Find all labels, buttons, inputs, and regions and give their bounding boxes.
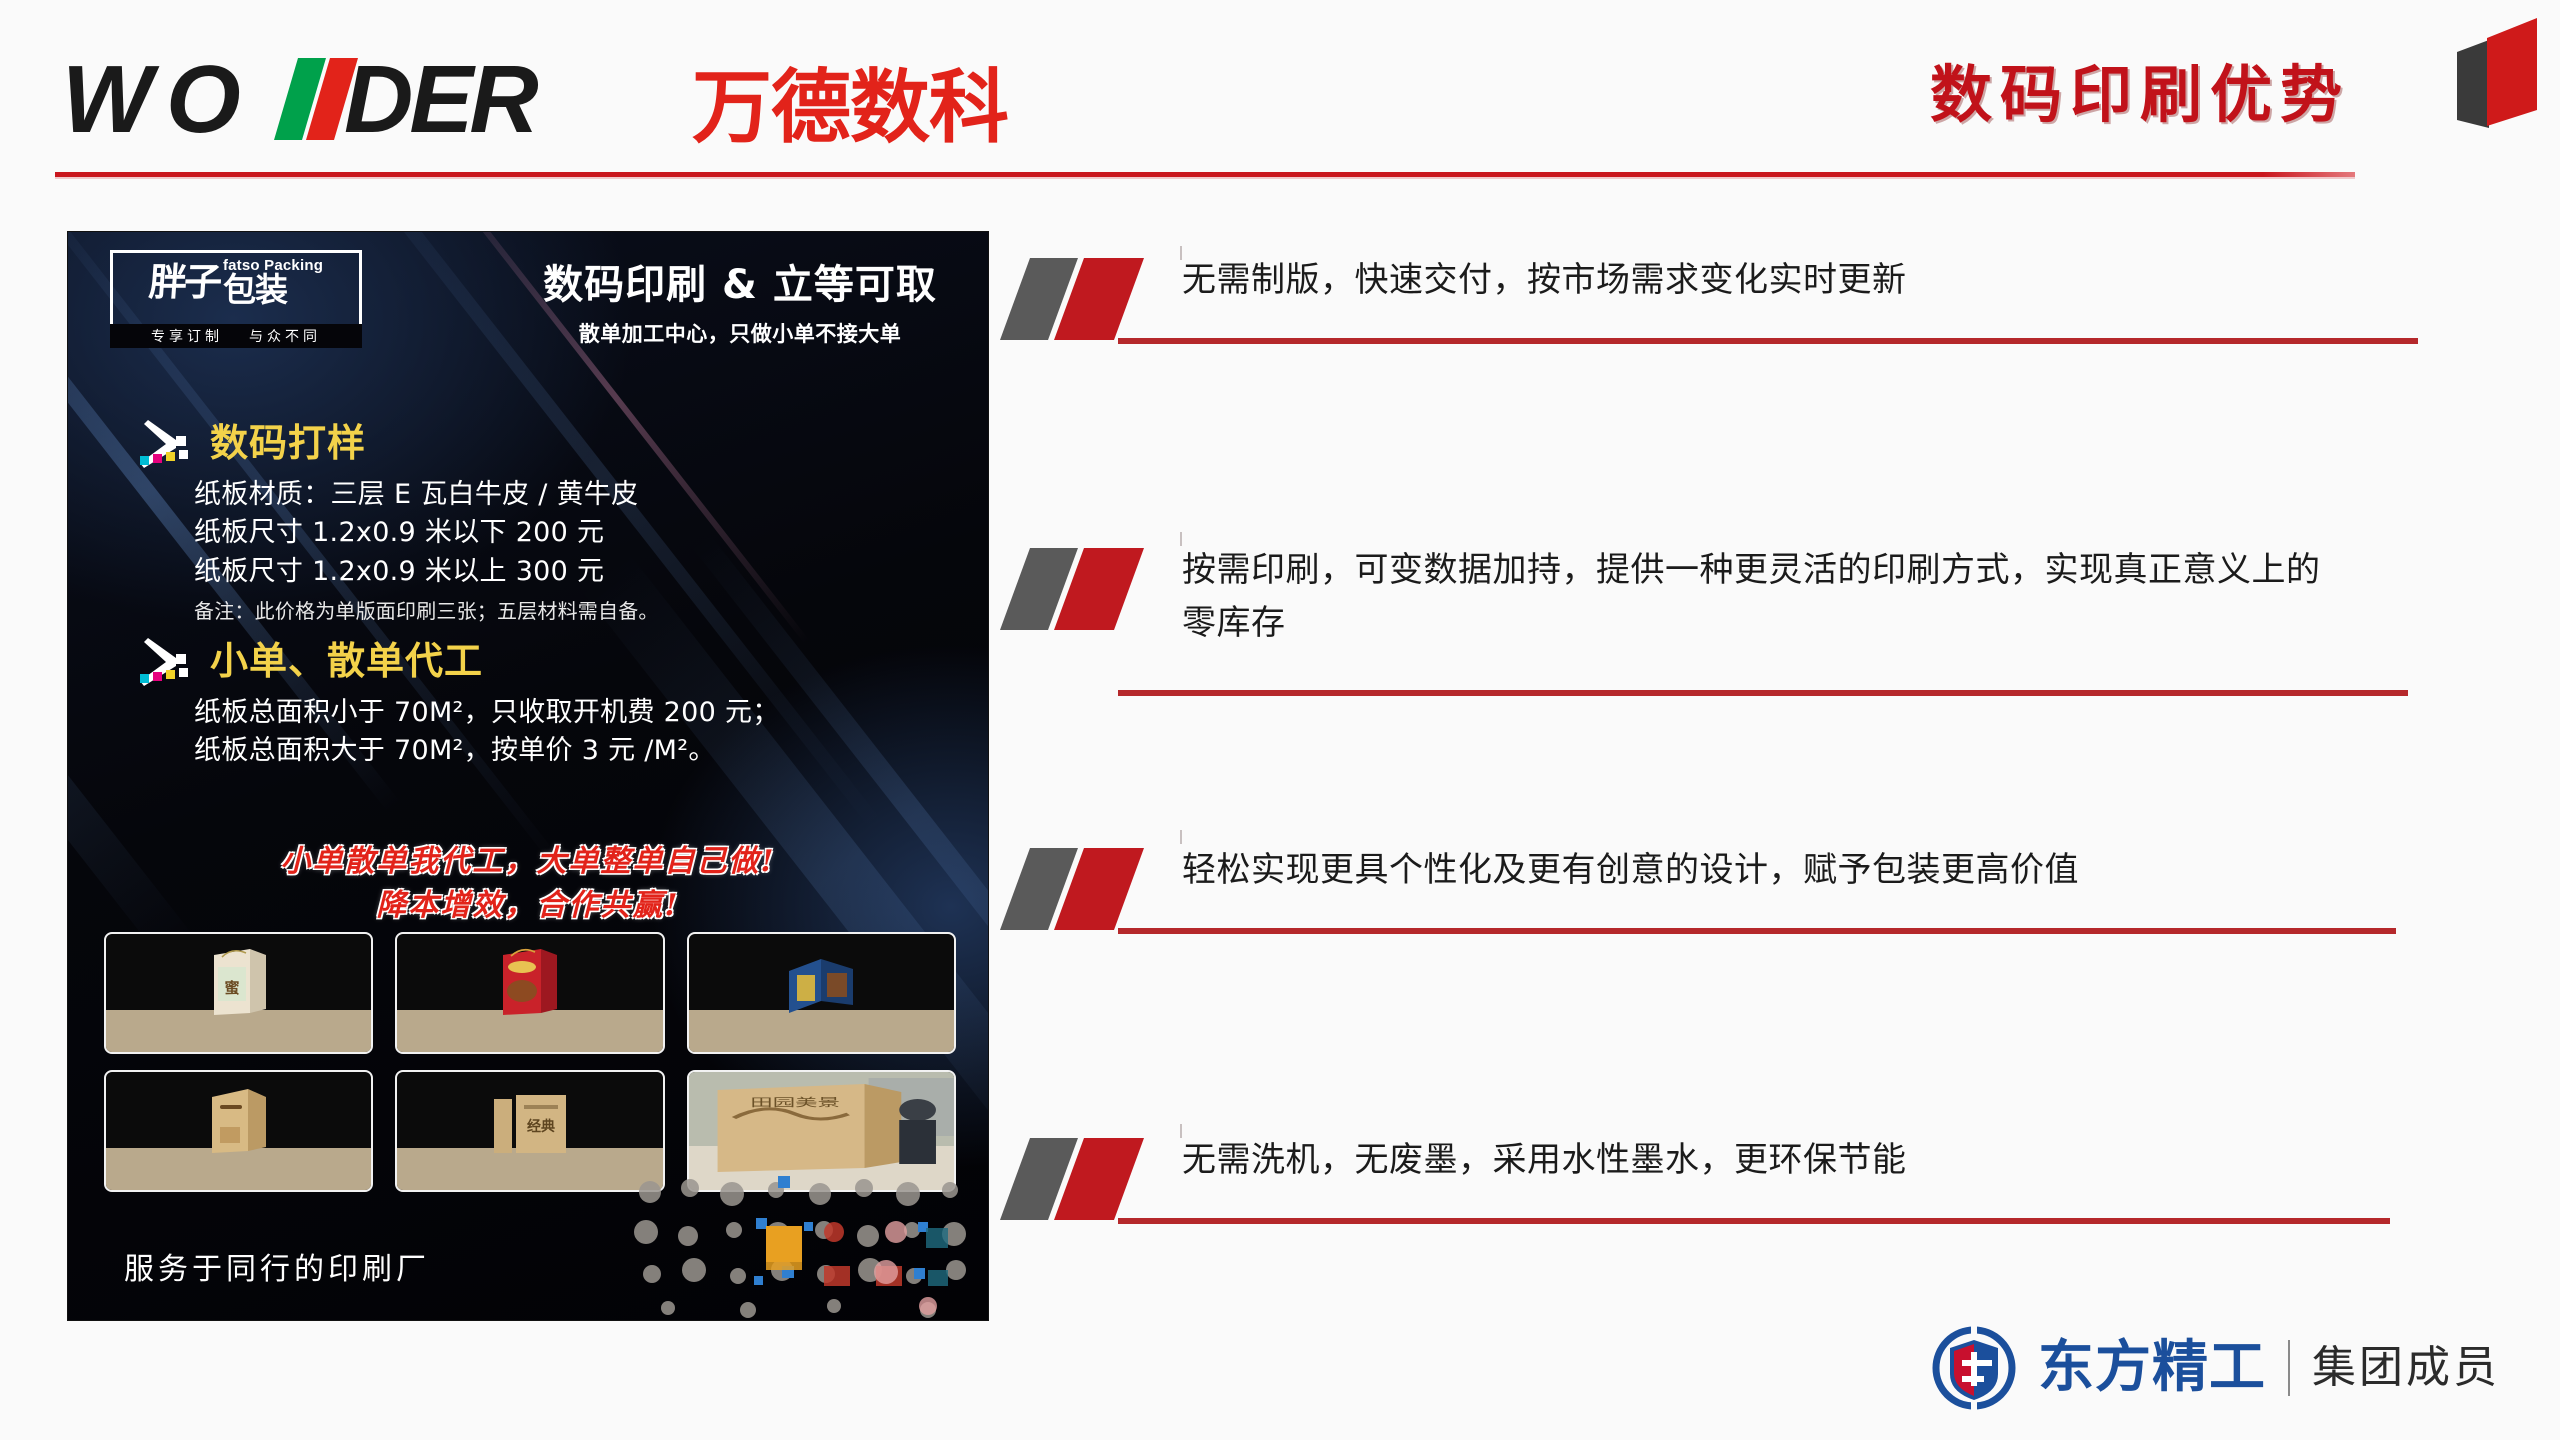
product-photo: 经典 [395,1070,664,1192]
poster-slogan: 小单散单我代工，大单整单自己做! 降本增效，合作共赢! [68,840,988,927]
svg-text:W: W [62,48,160,152]
page-title: 数码印刷优势 [1930,44,2350,134]
poster-section-digital-proofing: 数码打样 纸板材质：三层 E 瓦白牛皮 / 黄牛皮 纸板尺寸 1.2x0.9 米… [134,418,954,624]
group-logo: 东方精工 集团成员 [1932,1326,2500,1410]
section-title: 小单、散单代工 [210,642,483,682]
company-logo: W O DER 万德数科 [62,48,1008,152]
section-title: 数码打样 [210,424,366,464]
double-parallelogram-icon [1000,250,1170,346]
double-parallelogram-icon [1000,1130,1170,1226]
advantage-item[interactable]: 无需制版，快速交付，按市场需求变化实时更新 [1000,250,2420,540]
section-line: 纸板总面积小于 70M²，只收取开机费 200 元； [194,694,954,732]
header-divider-shadow [55,177,2355,179]
poster-footer-text: 服务于同行的印刷厂 [124,1244,430,1288]
company-logo-chinese: 万德数科 [692,68,1008,148]
svg-text:田园美景: 田园美景 [750,1096,840,1109]
poster-headline-group: 数码印刷 & 立等可取 散单加工中心，只做小单不接大单 [520,252,960,348]
group-logo-name: 东方精工 [2038,1340,2266,1396]
fatso-tag-left: 专享订制 [151,326,223,346]
svg-text:DER: DER [344,48,538,152]
poster-headline: 数码印刷 & 立等可取 [520,252,960,310]
advantage-underline [1118,928,2396,934]
advantage-text: 轻松实现更具个性化及更有创意的设计，赋予包装更高价值 [1182,844,2342,897]
chevron-cmyk-icon [134,636,196,688]
group-logo-divider [2288,1340,2290,1396]
corner-flag-icon [2439,10,2544,130]
svg-text:O: O [166,48,240,152]
advantage-item[interactable]: 轻松实现更具个性化及更有创意的设计，赋予包装更高价值 [1000,840,2420,1130]
advantages-list: 无需制版，快速交付，按市场需求变化实时更新 按需印刷，可变数据加持，提供一种更灵… [1000,250,2420,1370]
dongfang-jingong-emblem-icon [1932,1326,2016,1410]
double-parallelogram-icon [1000,540,1170,636]
promo-poster: 胖子 fatso Packing 包装 专享订制 与众不同 数码印刷 & 立等可… [68,232,988,1320]
svg-text:蜜: 蜜 [224,979,239,997]
slide-root: W O DER 万德数科 数码印刷优势 [0,0,2560,1440]
section-line: 纸板材质：三层 E 瓦白牛皮 / 黄牛皮 [194,476,954,514]
fatso-logo-cn-mark: 胖子 [148,263,221,301]
advantage-text: 无需洗机，无废墨，采用水性墨水，更环保节能 [1182,1134,2342,1187]
svg-text:经典: 经典 [527,1118,555,1135]
product-photo [395,932,664,1054]
section-line: 纸板总面积大于 70M²，按单价 3 元 /M²。 [194,732,954,770]
section-line: 纸板尺寸 1.2x0.9 米以下 200 元 [194,514,954,552]
poster-section-small-order-oem: 小单、散单代工 纸板总面积小于 70M²，只收取开机费 200 元； 纸板总面积… [134,636,954,771]
fatso-logo: 胖子 fatso Packing 包装 专享订制 与众不同 [110,250,362,336]
double-parallelogram-icon [1000,840,1170,936]
product-photo [687,932,956,1054]
slogan-line: 降本增效，合作共赢! [68,884,988,928]
wonder-wordmark-icon: W O DER [62,48,682,152]
poster-header: 胖子 fatso Packing 包装 专享订制 与众不同 数码印刷 & 立等可… [68,232,988,350]
product-photo: 蜜 [104,932,373,1054]
slogan-line: 小单散单我代工，大单整单自己做! [68,840,988,884]
fatso-logo-cn-word: 包装 [223,273,287,306]
advantage-underline [1118,690,2408,696]
poster-subheadline: 散单加工中心，只做小单不接大单 [520,318,960,348]
halftone-dots-decoration [628,1170,988,1320]
advantage-text: 无需制版，快速交付，按市场需求变化实时更新 [1182,254,2342,307]
tick-mark [1180,830,1182,844]
chevron-cmyk-icon [134,418,196,470]
fatso-tag-right: 与众不同 [249,326,321,346]
advantage-text: 按需印刷，可变数据加持，提供一种更灵活的印刷方式，实现真正意义上的零库存 [1182,544,2342,649]
advantage-underline [1118,338,2418,344]
section-note: 备注：此价格为单版面印刷三张；五层材料需自备。 [194,595,954,624]
product-photo-grid: 蜜 [104,932,956,1192]
product-photo [104,1070,373,1192]
advantage-underline [1118,1218,2390,1224]
group-logo-member: 集团成员 [2312,1346,2500,1390]
advantage-item[interactable]: 按需印刷，可变数据加持，提供一种更灵活的印刷方式，实现真正意义上的零库存 [1000,540,2420,840]
section-line: 纸板尺寸 1.2x0.9 米以上 300 元 [194,553,954,591]
